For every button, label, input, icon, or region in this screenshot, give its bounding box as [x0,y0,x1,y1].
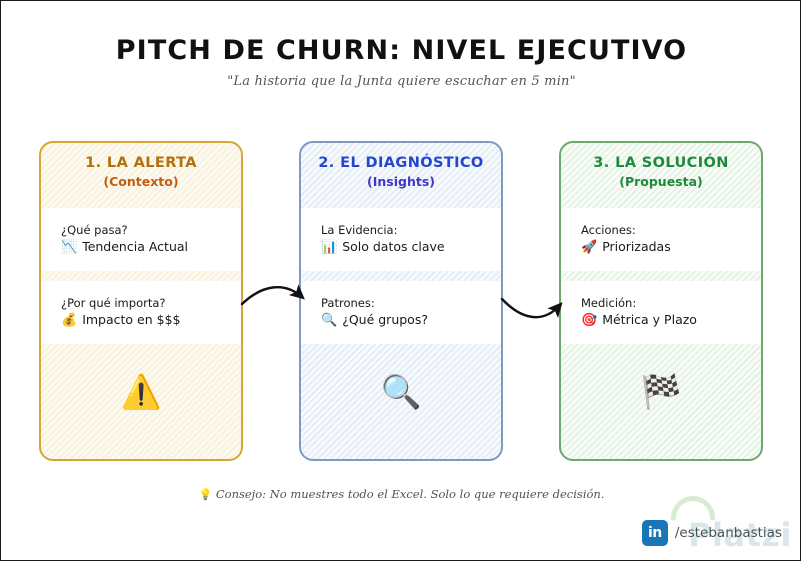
row-value-line: 🔍 ¿Qué grupos? [321,312,481,329]
card-row: Medición: 🎯 Métrica y Plazo [561,281,761,344]
row-value-line: 📉 Tendencia Actual [61,239,221,256]
card-row: ¿Por qué importa? 💰 Impacto en $$$ [41,281,241,344]
row-label: Medición: [581,296,741,312]
tip-text: Consejo: No muestres todo el Excel. Solo… [216,487,605,501]
linkedin-handle: /estebanbastias [675,525,782,541]
card-row: La Evidencia: 📊 Solo datos clave [301,208,501,271]
row-label: ¿Por qué importa? [61,296,221,312]
card-la-alerta[interactable]: 1. LA ALERTA (Contexto) ¿Qué pasa? 📉 Ten… [39,141,243,461]
card-la-solucion[interactable]: 3. LA SOLUCIÓN (Propuesta) Acciones: 🚀 P… [559,141,763,461]
row-value: ¿Qué grupos? [342,312,428,329]
magnifying-glass-icon: 🔍 [301,375,501,408]
money-bag-icon: 💰 [61,314,77,327]
card-row: Acciones: 🚀 Priorizadas [561,208,761,271]
warning-triangle-icon: ⚠️ [41,375,241,408]
card-row: Patrones: 🔍 ¿Qué grupos? [301,281,501,344]
lightbulb-icon: 💡 [198,488,212,501]
linkedin-badge[interactable]: in /estebanbastias [642,520,782,546]
row-value: Tendencia Actual [82,239,188,256]
linkedin-icon[interactable]: in [642,520,668,546]
row-value: Métrica y Plazo [602,312,697,329]
header: PITCH DE CHURN: NIVEL EJECUTIVO "La hist… [1,37,801,89]
row-value-line: 🚀 Priorizadas [581,239,741,256]
card-title: 1. LA ALERTA [41,155,241,172]
magnifying-glass-icon: 🔍 [321,314,337,327]
card-subtitle: (Propuesta) [561,175,761,189]
card-header: 3. LA SOLUCIÓN (Propuesta) [561,143,761,189]
row-value: Solo datos clave [342,239,444,256]
page-title: PITCH DE CHURN: NIVEL EJECUTIVO [1,37,801,65]
infographic-page: PITCH DE CHURN: NIVEL EJECUTIVO "La hist… [0,0,801,561]
row-label: La Evidencia: [321,223,481,239]
card-row: ¿Qué pasa? 📉 Tendencia Actual [41,208,241,271]
row-label: Acciones: [581,223,741,239]
card-title: 2. EL DIAGNÓSTICO [301,155,501,172]
row-value-line: 🎯 Métrica y Plazo [581,312,741,329]
target-icon: 🎯 [581,314,597,327]
card-subtitle: (Contexto) [41,175,241,189]
row-value: Impacto en $$$ [82,312,180,329]
row-value-line: 📊 Solo datos clave [321,239,481,256]
card-el-diagnostico[interactable]: 2. EL DIAGNÓSTICO (Insights) La Evidenci… [299,141,503,461]
row-label: ¿Qué pasa? [61,223,221,239]
card-subtitle: (Insights) [301,175,501,189]
row-value-line: 💰 Impacto en $$$ [61,312,221,329]
rocket-icon: 🚀 [581,241,597,254]
card-header: 1. LA ALERTA (Contexto) [41,143,241,189]
row-value: Priorizadas [602,239,671,256]
card-title: 3. LA SOLUCIÓN [561,155,761,172]
chequered-flag-icon: 🏁 [561,375,761,408]
row-label: Patrones: [321,296,481,312]
bar-chart-icon: 📊 [321,241,337,254]
chart-decreasing-icon: 📉 [61,241,77,254]
page-subtitle: "La historia que la Junta quiere escucha… [1,74,801,89]
arrow-card1-to-card2 [242,287,302,304]
card-header: 2. EL DIAGNÓSTICO (Insights) [301,143,501,189]
arrow-card2-to-card3 [502,299,560,317]
